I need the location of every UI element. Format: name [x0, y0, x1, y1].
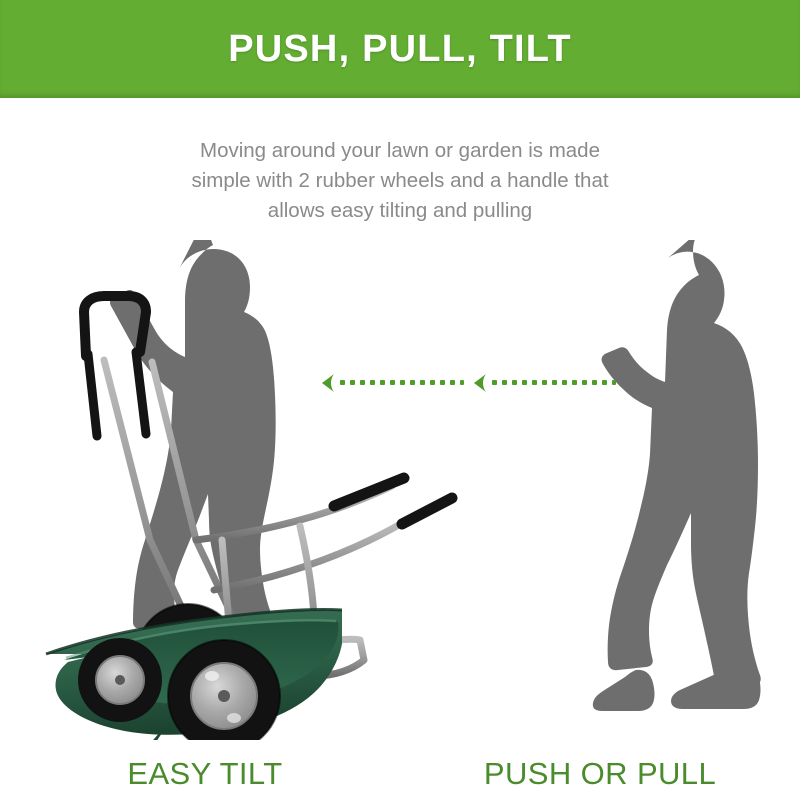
subtitle-text: Moving around your lawn or garden is mad… [100, 136, 700, 226]
dotted-arrow-divider [320, 370, 620, 396]
person-silhouette-walking [593, 240, 761, 711]
arrow-head-icon [474, 374, 486, 392]
caption-easy-tilt: EASY TILT [40, 752, 370, 796]
handle-tube-left [88, 354, 97, 436]
handle-grip-lower [402, 498, 452, 524]
subtitle-line-3: allows easy tilting and pulling [100, 196, 700, 226]
header-banner: PUSH, PULL, TILT [0, 0, 800, 98]
arrow-head-icon [322, 374, 334, 392]
page-title: PUSH, PULL, TILT [0, 0, 800, 98]
right-illustration-pulling [46, 240, 761, 740]
subtitle-line-1: Moving around your lawn or garden is mad… [100, 136, 700, 166]
dotted-arrow-segment-1 [322, 374, 464, 392]
caption-push-or-pull: PUSH OR PULL [430, 752, 770, 796]
cart-wheel-front [168, 640, 280, 740]
illustration-area [0, 240, 800, 740]
cart-wheel-rear [78, 638, 162, 722]
handle-tube-right [136, 352, 146, 434]
dotted-arrow-segment-2 [474, 374, 616, 392]
handle-grip-upper [334, 478, 404, 506]
subtitle-line-2: simple with 2 rubber wheels and a handle… [100, 166, 700, 196]
